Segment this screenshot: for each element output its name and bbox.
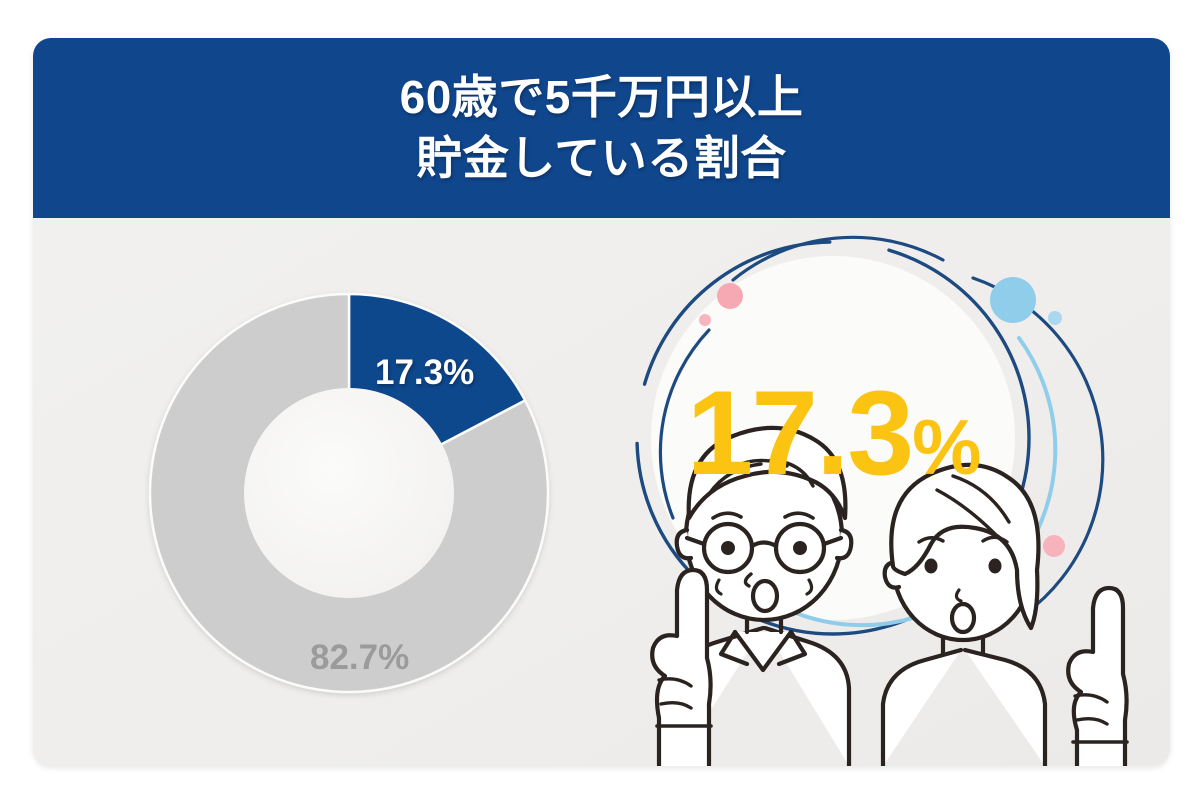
woman-pointing-hand (1068, 588, 1127, 766)
header-title-line-1: 60歳で5千万円以上 (400, 67, 804, 128)
donut-label-secondary: 82.7% (310, 638, 409, 678)
infographic-card: 60歳で5千万円以上 貯金している割合 17.3% (33, 38, 1170, 766)
donut-center-hole (244, 388, 454, 598)
man-pointing-hand (652, 570, 711, 766)
donut-chart: 17.3% 82.7% (143, 287, 555, 699)
pink-dot-lower-right (1043, 535, 1065, 557)
highlight-percentage-value: 17.3% (613, 373, 1053, 493)
highlight-value-number: 17.3 (687, 366, 913, 500)
card-header-banner: 60歳で5千万円以上 貯金している割合 (33, 38, 1170, 218)
highlight-panel: 17.3% (613, 218, 1170, 766)
highlight-value-percent-sign: % (912, 403, 979, 491)
card-body: 17.3% 82.7% (33, 218, 1170, 766)
pink-dot-large (717, 283, 743, 309)
senior-woman-figure (883, 465, 1127, 766)
blue-dot-small (1048, 311, 1062, 325)
pink-dot-small (699, 314, 711, 326)
header-title-line-2: 貯金している割合 (416, 128, 787, 189)
blue-dot-large (990, 277, 1036, 323)
donut-label-primary: 17.3% (375, 353, 474, 393)
